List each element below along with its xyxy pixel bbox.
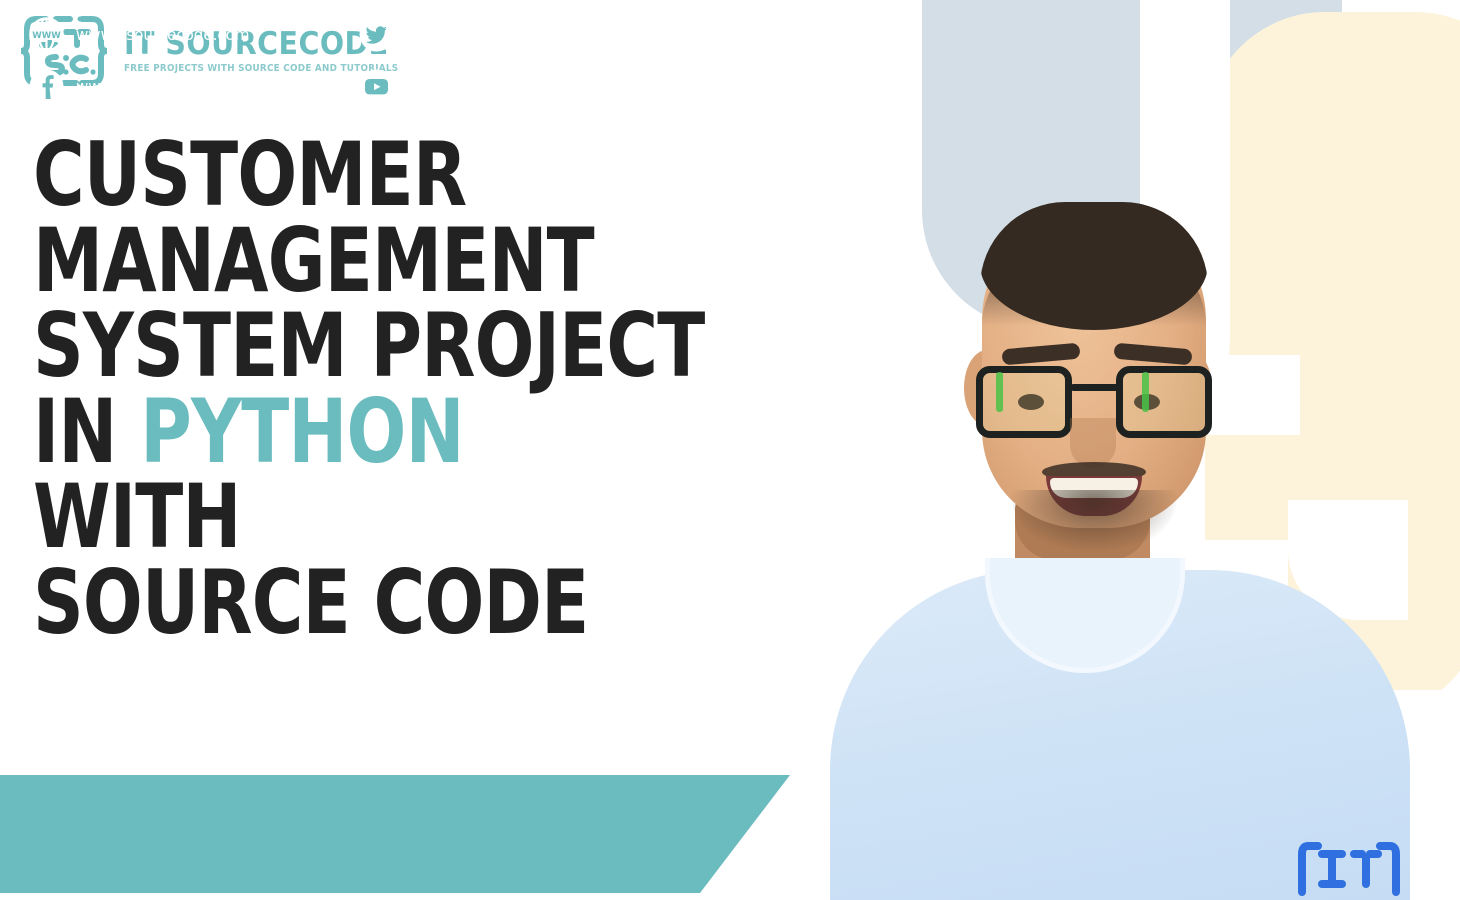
social-link-website[interactable]: WWW www.itsourcecode.com [28,16,358,53]
website-label: www.itsourcecode.com [76,25,250,44]
svg-text:WWW: WWW [32,30,61,40]
social-link-facebook[interactable]: www.facebook.com/itsourcecode/ [28,68,358,105]
shirt-it-logo-icon [1296,838,1402,900]
title-line-1: CUSTOMER [33,133,833,217]
youtube-label: www.youtube.com/c/JokenVillanueva [406,77,682,96]
page-title: CUSTOMER MANAGEMENT SYSTEM PROJECT IN PY… [33,133,1033,647]
social-links: WWW www.itsourcecode.com www.twitter.com… [28,8,700,112]
title-line-4: IN PYTHON [33,390,833,474]
thumbnail-canvas: IT SOURCECODE FREE PROJECTS WITH SOURCE … [0,0,1460,900]
glasses-bridge [1070,384,1122,391]
lens-right [1116,366,1212,438]
globe-www-icon: WWW [28,16,65,53]
footer-banner [0,775,790,893]
twitter-label: www.twitter.com/itsourcecode [406,25,633,44]
social-link-twitter[interactable]: www.twitter.com/itsourcecode [358,16,700,53]
lens-glint-right [1142,372,1149,412]
facebook-icon [28,68,65,105]
title-line-2: MANAGEMENT [33,219,833,303]
title-line-3: SYSTEM PROJECT [33,304,833,388]
facebook-label: www.facebook.com/itsourcecode/ [76,77,328,96]
social-link-youtube[interactable]: www.youtube.com/c/JokenVillanueva [358,68,700,105]
youtube-icon [358,68,395,105]
nose [1070,418,1116,468]
twitter-icon [358,16,395,53]
title-line-5: WITH [33,475,833,559]
title-line-6: SOURCE CODE [33,561,833,645]
